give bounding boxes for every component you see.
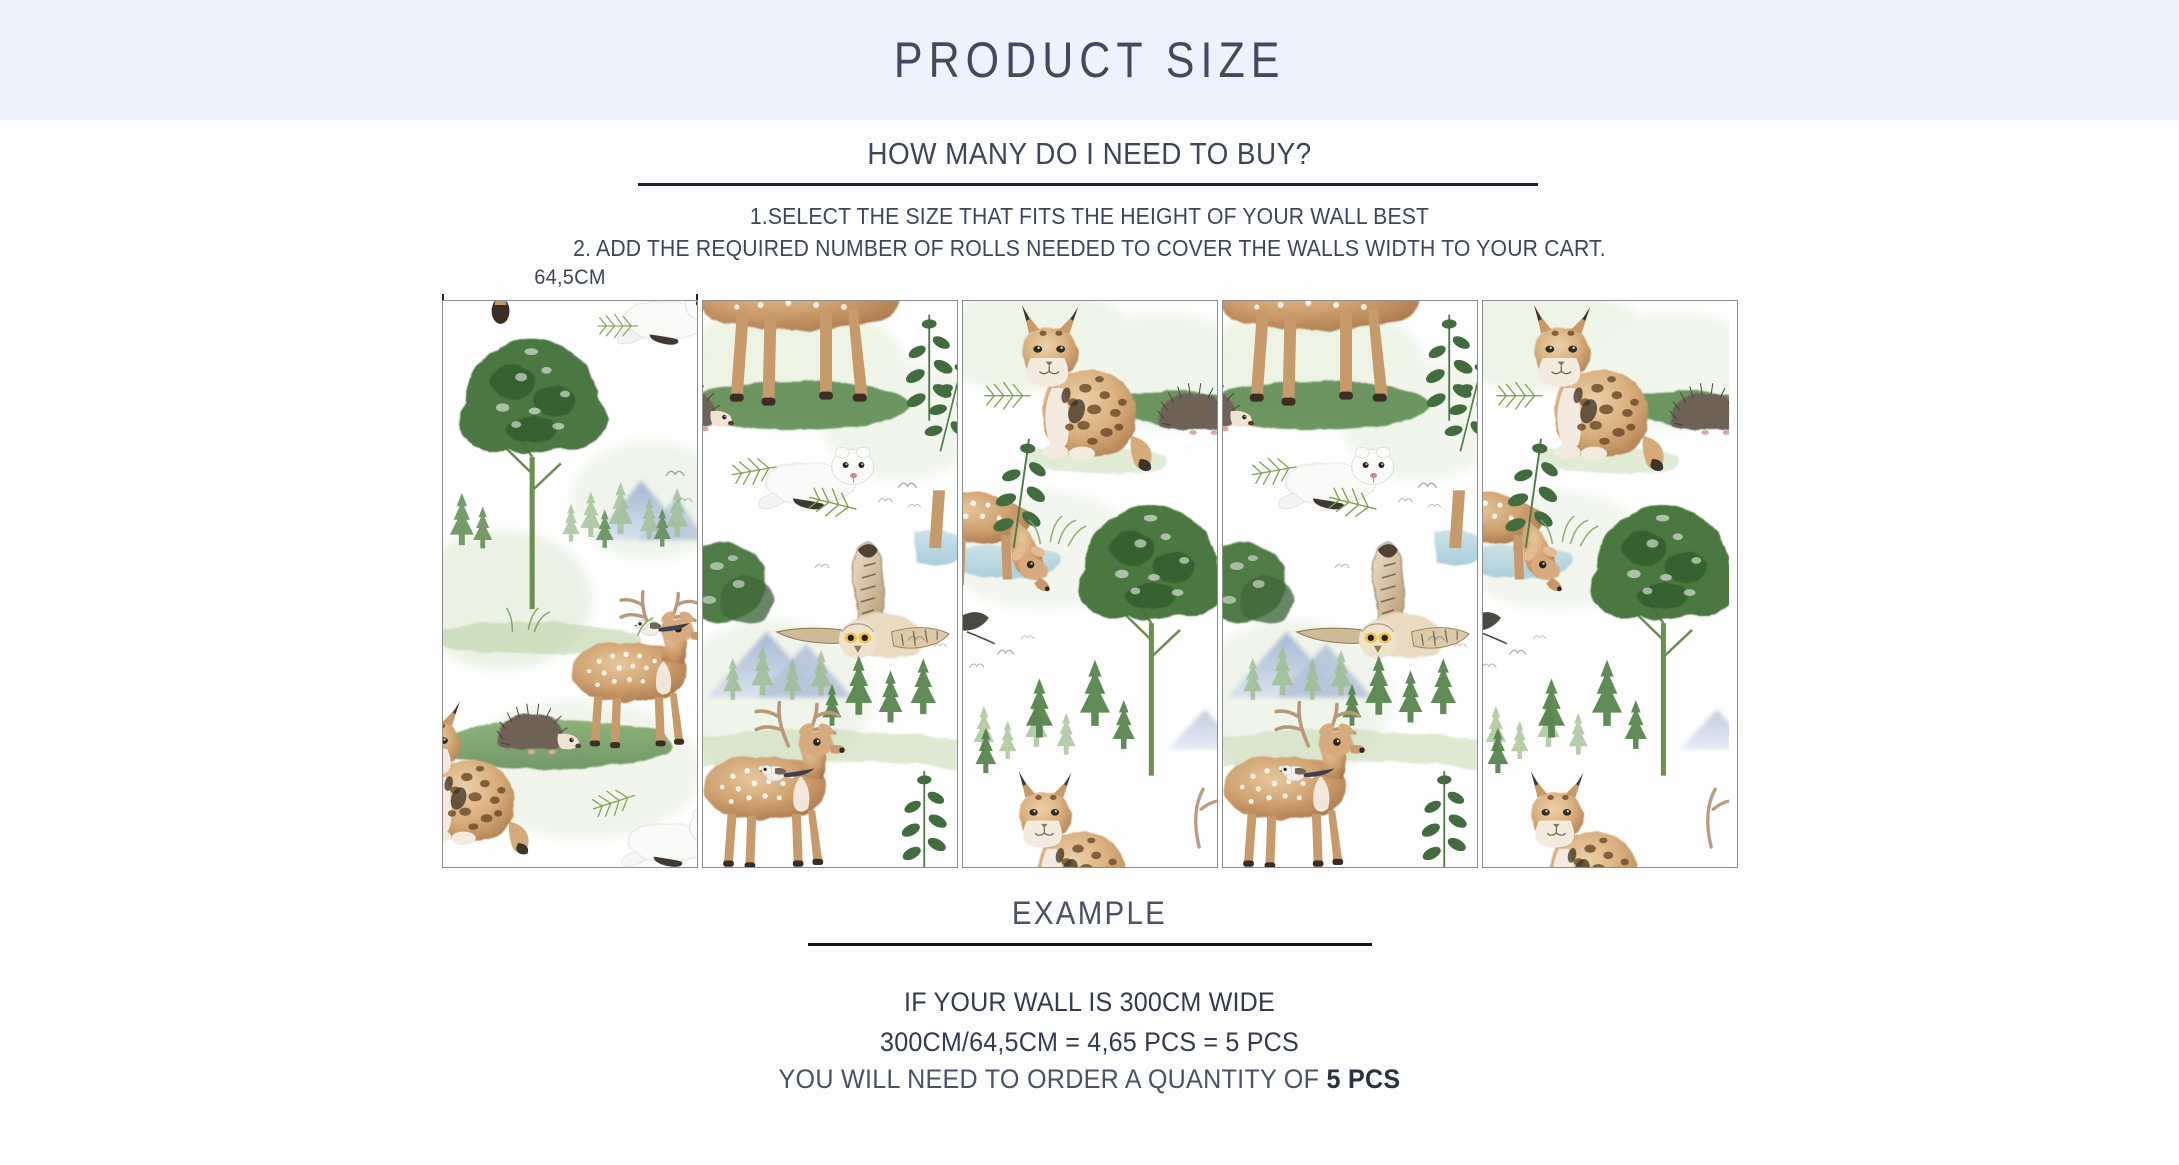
wallpaper-panel[interactable] [1222, 300, 1478, 868]
wallpaper-panel[interactable] [1482, 300, 1738, 868]
header-band: PRODUCT SIZE [0, 0, 2179, 120]
example-formula: 300CM/64,5CM = 4,65 PCS = 5 PCS [76, 1022, 2102, 1062]
wallpaper-panel[interactable] [702, 300, 958, 868]
wallpaper-panel[interactable] [442, 300, 698, 868]
how-many-heading: HOW MANY DO I NEED TO BUY? [109, 136, 2070, 172]
product-size-page: PRODUCT SIZE HOW MANY DO I NEED TO BUY? … [0, 0, 2179, 1165]
page-title: PRODUCT SIZE [894, 31, 1286, 89]
dimension-label: 64,5CM [448, 266, 691, 290]
example-conclusion: YOU WILL NEED TO ORDER A QUANTITY OF 5 P… [76, 1064, 2102, 1095]
heading-divider [638, 183, 1538, 186]
conclusion-quantity: 5 PCS [1326, 1064, 1400, 1094]
instruction-line-1: 1.SELECT THE SIZE THAT FITS THE HEIGHT O… [87, 200, 2092, 232]
example-heading: EXAMPLE [87, 895, 2092, 932]
example-wall-width: IF YOUR WALL IS 300CM WIDE [76, 982, 2102, 1022]
instructions-list: 1.SELECT THE SIZE THAT FITS THE HEIGHT O… [0, 200, 2179, 264]
wallpaper-panel[interactable] [962, 300, 1218, 868]
instruction-line-2: 2. ADD THE REQUIRED NUMBER OF ROLLS NEED… [87, 232, 2092, 264]
conclusion-prefix: YOU WILL NEED TO ORDER A QUANTITY OF [779, 1064, 1327, 1094]
example-calculation: IF YOUR WALL IS 300CM WIDE 300CM/64,5CM … [0, 982, 2179, 1062]
example-divider [808, 943, 1372, 946]
wallpaper-panel-strip [442, 300, 1738, 868]
